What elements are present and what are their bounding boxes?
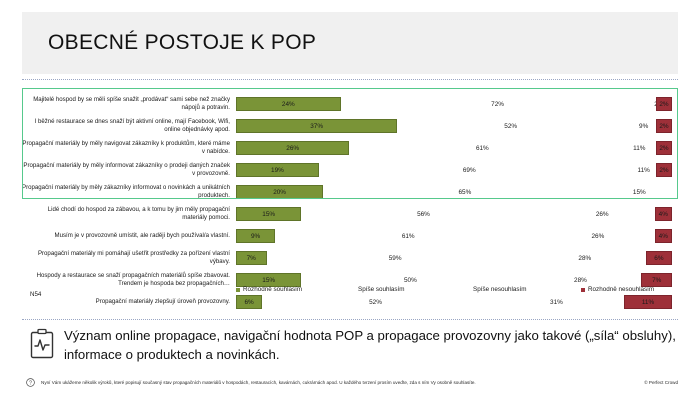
segment-agree-strong: 7%	[236, 251, 267, 265]
title-band: OBECNÉ POSTOJE K POP	[22, 12, 678, 74]
segment-agree: 61%	[275, 229, 541, 243]
chart-row-track: 7%59%28%6%	[236, 248, 672, 268]
segment-agree: 52%	[397, 119, 624, 133]
legend-item-label: Spíše souhlasím	[358, 286, 405, 293]
clipboard-pulse-icon	[22, 326, 62, 360]
segment-agree: 56%	[301, 207, 545, 221]
footnote-text: Nyní Vám ukážeme několik výroků, které p…	[41, 379, 634, 386]
segment-disagree-strong: 2%	[656, 141, 672, 155]
segment-disagree-strong: 2%	[656, 97, 672, 111]
svg-text:?: ?	[29, 380, 32, 386]
segment-agree: 65%	[323, 185, 606, 199]
legend-swatch-icon	[351, 288, 355, 292]
segment-agree: 59%	[267, 251, 524, 265]
segment-agree-strong: 15%	[236, 273, 301, 287]
chart-row-label: Lidé chodí do hospod za zábavou, a k tom…	[22, 206, 236, 221]
segment-disagree-strong: 2%	[656, 163, 672, 177]
chart-row-label: Propagační materiály mi pomáhají ušetřit…	[22, 250, 236, 265]
legend-swatch-icon	[236, 288, 240, 292]
segment-agree-strong: 19%	[236, 163, 319, 177]
chart-row-track: 24%72%2%2%	[236, 94, 672, 114]
slide: OBECNÉ POSTOJE K POP Majitelé hospod by …	[0, 0, 700, 400]
segment-disagree: 28%	[524, 251, 646, 265]
segment-agree-strong: 26%	[236, 141, 349, 155]
segment-agree-strong: 24%	[236, 97, 341, 111]
segment-agree-strong: 9%	[236, 229, 275, 243]
legend-items: Rozhodně souhlasímSpíše souhlasímSpíše n…	[236, 286, 672, 302]
legend-item-label: Spíše nesouhlasím	[473, 286, 527, 293]
segment-disagree-strong: 4%	[655, 229, 672, 243]
segment-disagree-strong: 4%	[655, 207, 672, 221]
segment-agree: 61%	[349, 141, 615, 155]
question-circle-icon: ?	[26, 378, 37, 387]
segment-disagree: 26%	[541, 229, 654, 243]
callout-text: Význam online propagace, navigační hodno…	[62, 326, 678, 364]
chart-row: Musím je v provozovně umístit, ale raděj…	[22, 226, 678, 246]
segment-agree: 69%	[319, 163, 620, 177]
chart-row-label: Propagační materiály by měly informovat …	[22, 162, 236, 177]
segment-agree-strong: 37%	[236, 119, 397, 133]
segment-disagree: 26%	[546, 207, 659, 221]
segment-disagree: 28%	[519, 273, 641, 287]
chart-row-track: 9%61%26%4%	[236, 226, 672, 246]
copyright-label: © Perfect Crowd	[634, 380, 678, 385]
segment-agree-strong: 15%	[236, 207, 301, 221]
page-title: OBECNÉ POSTOJE K POP	[22, 31, 316, 55]
chart-row-track: 20%65%15%	[236, 182, 672, 202]
chart-row: Propagační materiály by měly navigovat z…	[22, 138, 678, 158]
segment-disagree: 15%	[607, 185, 672, 199]
divider-bottom	[22, 319, 678, 320]
segment-agree: 50%	[301, 273, 519, 287]
stacked-bar-chart: Majitelé hospod by se měli spíše snažit …	[22, 88, 678, 313]
chart-row-label: I běžné restaurace se dnes snaží být akt…	[22, 118, 236, 133]
chart-row-label: Musím je v provozovně umístit, ale raděj…	[22, 232, 236, 240]
legend-item[interactable]: Rozhodně souhlasím	[236, 286, 302, 293]
chart-row: Propagační materiály by měly informovat …	[22, 160, 678, 180]
callout-box: Význam online propagace, navigační hodno…	[22, 326, 678, 376]
legend-item[interactable]: Rozhodně nesouhlasím	[581, 286, 654, 293]
legend-item-label: Rozhodně nesouhlasím	[588, 286, 654, 293]
chart-row-track: 26%61%11%2%	[236, 138, 672, 158]
segment-disagree-strong: 2%	[656, 119, 672, 133]
footnote: ? Nyní Vám ukážeme několik výroků, které…	[26, 378, 678, 387]
chart-row-label: Majitelé hospod by se měli spíše snažit …	[22, 96, 236, 111]
chart-row-track: 15%56%26%4%	[236, 204, 672, 224]
chart-row-track: 37%52%9%2%	[236, 116, 672, 136]
chart-row: Propagační materiály by měly zákazníky i…	[22, 182, 678, 202]
chart-row: I běžné restaurace se dnes snaží být akt…	[22, 116, 678, 136]
segment-disagree-strong: 7%	[641, 273, 672, 287]
legend-swatch-icon	[466, 288, 470, 292]
sample-size-label: N54	[22, 291, 236, 298]
chart-legend: N54 Rozhodně souhlasímSpíše souhlasímSpí…	[22, 286, 678, 302]
chart-row-track: 19%69%11%2%	[236, 160, 672, 180]
chart-rows: Majitelé hospod by se měli spíše snažit …	[22, 94, 678, 314]
chart-row: Propagační materiály mi pomáhají ušetřit…	[22, 248, 678, 268]
legend-item-label: Rozhodně souhlasím	[243, 286, 302, 293]
legend-item[interactable]: Spíše nesouhlasím	[466, 286, 527, 293]
segment-disagree-strong: 6%	[646, 251, 672, 265]
segment-agree: 72%	[341, 97, 655, 111]
segment-agree-strong: 20%	[236, 185, 323, 199]
divider-top	[22, 79, 678, 80]
legend-item[interactable]: Spíše souhlasím	[351, 286, 405, 293]
chart-row-label: Propagační materiály by měly navigovat z…	[22, 140, 236, 155]
chart-row: Lidé chodí do hospod za zábavou, a k tom…	[22, 204, 678, 224]
chart-row: Majitelé hospod by se měli spíše snažit …	[22, 94, 678, 114]
chart-row-label: Propagační materiály by měly zákazníky i…	[22, 184, 236, 199]
legend-swatch-icon	[581, 288, 585, 292]
